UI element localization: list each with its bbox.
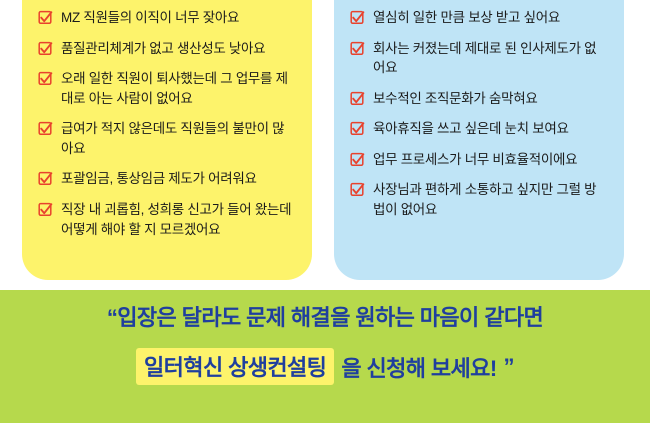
employer-concerns-list: MZ 직원들의 이직이 너무 잦아요 품질관리체계가 없고 생산성도 낮아요 — [38, 8, 296, 239]
quote-line-2: 일터혁신 상생컨설팅 을 신청해 보세요!” — [0, 348, 650, 385]
list-item-label: 업무 프로세스가 너무 비효율적이에요 — [373, 150, 577, 170]
list-item-label: MZ 직원들의 이직이 너무 잦아요 — [61, 8, 239, 28]
list-item: 사장님과 편하게 소통하고 싶지만 그럴 방법이 없어요 — [350, 180, 608, 219]
list-item-label: 오래 일한 직원이 퇴사했는데 그 업무를 제대로 아는 사람이 없어요 — [61, 69, 296, 108]
program-name-highlight: 일터혁신 상생컨설팅 — [136, 348, 334, 385]
employee-concerns-list: 열심히 일한 만큼 보상 받고 싶어요 회사는 커졌는데 제대로 된 인사제도가… — [350, 8, 608, 220]
list-item-label: 사장님과 편하게 소통하고 싶지만 그럴 방법이 없어요 — [373, 180, 608, 219]
check-box-icon — [38, 171, 53, 186]
quote-line-2-tail: 을 신청해 보세요! — [341, 351, 496, 383]
check-box-icon — [350, 91, 365, 106]
check-box-icon — [350, 121, 365, 136]
list-item: MZ 직원들의 이직이 너무 잦아요 — [38, 8, 296, 28]
quote-line-1: “입장은 달라도 문제 해결을 원하는 마음이 같다면 — [0, 300, 650, 332]
list-item: 업무 프로세스가 너무 비효율적이에요 — [350, 150, 608, 170]
check-box-icon — [350, 10, 365, 25]
list-item: 포괄임금, 통상임금 제도가 어려워요 — [38, 169, 296, 189]
list-item-label: 열심히 일한 만큼 보상 받고 싶어요 — [373, 8, 560, 28]
check-box-icon — [350, 41, 365, 56]
list-item-label: 보수적인 조직문화가 숨막혀요 — [373, 89, 537, 109]
check-box-icon — [38, 41, 53, 56]
list-item-label: 회사는 커졌는데 제대로 된 인사제도가 없어요 — [373, 39, 608, 78]
check-box-icon — [350, 182, 365, 197]
check-box-icon — [38, 10, 53, 25]
list-item-label: 직장 내 괴롭힘, 성희롱 신고가 들어 왔는데 어떻게 해야 할 지 모르겠어… — [61, 200, 296, 239]
closing-quote: “입장은 달라도 문제 해결을 원하는 마음이 같다면 일터혁신 상생컨설팅 을… — [0, 300, 650, 385]
list-item: 열심히 일한 만큼 보상 받고 싶어요 — [350, 8, 608, 28]
check-box-icon — [38, 121, 53, 136]
check-box-icon — [38, 202, 53, 217]
check-box-icon — [350, 152, 365, 167]
list-item-label: 포괄임금, 통상임금 제도가 어려워요 — [61, 169, 257, 189]
close-quote-mark: ” — [504, 354, 514, 380]
employer-concerns-card: MZ 직원들의 이직이 너무 잦아요 품질관리체계가 없고 생산성도 낮아요 — [22, 0, 312, 280]
list-item: 육아휴직을 쓰고 싶은데 눈치 보여요 — [350, 119, 608, 139]
list-item-label: 육아휴직을 쓰고 싶은데 눈치 보여요 — [373, 119, 569, 139]
list-item: 오래 일한 직원이 퇴사했는데 그 업무를 제대로 아는 사람이 없어요 — [38, 69, 296, 108]
list-item-label: 품질관리체계가 없고 생산성도 낮아요 — [61, 39, 265, 59]
poster-page: MZ 직원들의 이직이 너무 잦아요 품질관리체계가 없고 생산성도 낮아요 — [0, 0, 650, 423]
list-item: 급여가 적지 않은데도 직원들의 불만이 많아요 — [38, 119, 296, 158]
list-item: 보수적인 조직문화가 숨막혀요 — [350, 89, 608, 109]
employee-concerns-card: 열심히 일한 만큼 보상 받고 싶어요 회사는 커졌는데 제대로 된 인사제도가… — [334, 0, 624, 280]
list-item-label: 급여가 적지 않은데도 직원들의 불만이 많아요 — [61, 119, 296, 158]
list-item: 회사는 커졌는데 제대로 된 인사제도가 없어요 — [350, 39, 608, 78]
open-quote-mark: “ — [107, 305, 117, 330]
check-box-icon — [38, 71, 53, 86]
list-item: 품질관리체계가 없고 생산성도 낮아요 — [38, 39, 296, 59]
list-item: 직장 내 괴롭힘, 성희롱 신고가 들어 왔는데 어떻게 해야 할 지 모르겠어… — [38, 200, 296, 239]
quote-line-1-text: 입장은 달라도 문제 해결을 원하는 마음이 같다면 — [117, 305, 543, 330]
